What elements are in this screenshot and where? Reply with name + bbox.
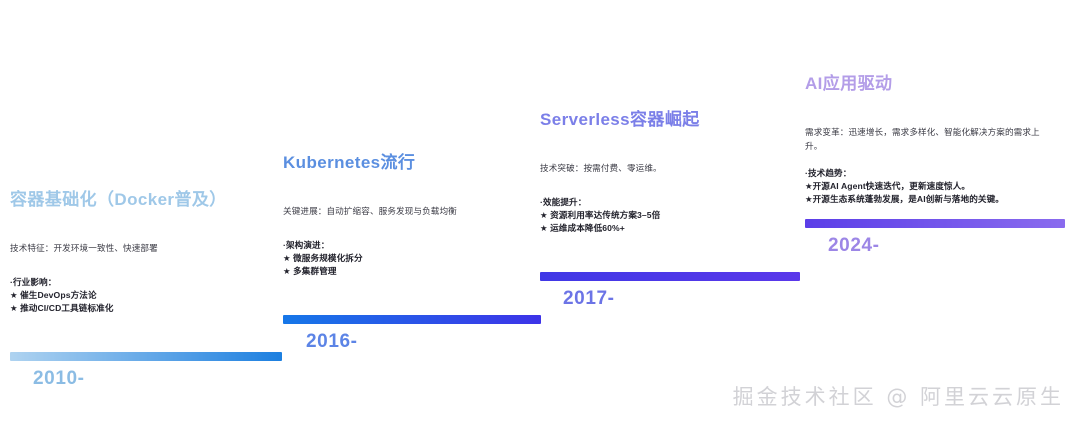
timeline-stage-containerization: 容器基础化（Docker普及） 技术特征：开发环境一致性、快速部署 ·行业影响：… <box>10 190 282 390</box>
star-icon: ★ <box>10 303 18 313</box>
stage-lead-text: 技术特征：开发环境一致性、快速部署 <box>10 242 270 255</box>
stage-bullet-group: ·技术趋势： ★开源AI Agent快速迭代，更新速度惊人。 ★开源生态系统蓬勃… <box>805 167 1065 207</box>
bullet-item: ★ 多集群管理 <box>283 265 541 278</box>
bullet-group-heading: ·效能提升： <box>540 196 800 209</box>
stage-bullet-group: ·行业影响： ★ 催生DevOps方法论 ★ 推动CI/CD工具链标准化 <box>10 276 282 316</box>
bullet-item: ★ 资源利用率达传统方案3–5倍 <box>540 209 800 222</box>
bullet-item-label: 开源生态系统蓬勃发展，是AI创新与落地的关键。 <box>813 194 1004 204</box>
stage-year-label: 2024- <box>828 236 1065 257</box>
stage-lead-text: 需求变革：迅速增长，需求多样化、智能化解决方案的需求上升。 <box>805 126 1049 153</box>
stage-year-label: 2010- <box>33 369 282 390</box>
stage-title: 容器基础化（Docker普及） <box>10 190 282 210</box>
stage-title: AI应用驱动 <box>805 74 1065 94</box>
bullet-group-heading: ·技术趋势： <box>805 167 1065 180</box>
star-icon: ★ <box>805 194 813 204</box>
bullet-item: ★开源AI Agent快速迭代，更新速度惊人。 <box>805 180 1065 193</box>
bullet-item-label: 运维成本降低60%+ <box>550 223 625 233</box>
timeline-stage-ai-driven: AI应用驱动 需求变革：迅速增长，需求多样化、智能化解决方案的需求上升。 ·技术… <box>805 74 1065 256</box>
timeline-infographic: 容器基础化（Docker普及） 技术特征：开发环境一致性、快速部署 ·行业影响：… <box>0 0 1080 423</box>
stage-title: Serverless容器崛起 <box>540 110 800 130</box>
bullet-item: ★ 运维成本降低60%+ <box>540 222 800 235</box>
stage-bullet-group: ·架构演进： ★ 微服务规模化拆分 ★ 多集群管理 <box>283 239 541 279</box>
star-icon: ★ <box>10 290 18 300</box>
bullet-group-heading: ·行业影响： <box>10 276 282 289</box>
bullet-item-label: 资源利用率达传统方案3–5倍 <box>550 210 660 220</box>
stage-title: Kubernetes流行 <box>283 153 541 173</box>
star-icon: ★ <box>805 181 813 191</box>
star-icon: ★ <box>283 253 291 263</box>
stage-lead-text: 技术突破：按需付费、零运维。 <box>540 162 790 175</box>
bullet-item-label: 开源AI Agent快速迭代，更新速度惊人。 <box>813 181 971 191</box>
bullet-group-heading: ·架构演进： <box>283 239 541 252</box>
bullet-item: ★ 推动CI/CD工具链标准化 <box>10 302 282 315</box>
stage-year-label: 2016- <box>306 332 541 353</box>
star-icon: ★ <box>540 210 548 220</box>
stage-progress-bar <box>283 315 541 324</box>
stage-lead-text: 关键进展：自动扩缩容、服务发现与负载均衡 <box>283 205 541 218</box>
timeline-stage-serverless: Serverless容器崛起 技术突破：按需付费、零运维。 ·效能提升： ★ 资… <box>540 110 800 310</box>
stage-progress-bar <box>10 352 282 361</box>
bullet-item-label: 微服务规模化拆分 <box>293 253 363 263</box>
timeline-stage-kubernetes: Kubernetes流行 关键进展：自动扩缩容、服务发现与负载均衡 ·架构演进：… <box>283 153 541 353</box>
stage-year-label: 2017- <box>563 289 800 310</box>
bullet-item-label: 催生DevOps方法论 <box>20 290 97 300</box>
bullet-item: ★开源生态系统蓬勃发展，是AI创新与落地的关键。 <box>805 193 1065 206</box>
bullet-item: ★ 微服务规模化拆分 <box>283 252 541 265</box>
bullet-item-label: 多集群管理 <box>293 266 336 276</box>
bullet-item: ★ 催生DevOps方法论 <box>10 289 282 302</box>
star-icon: ★ <box>283 266 291 276</box>
stage-progress-bar <box>540 272 800 281</box>
stage-bullet-group: ·效能提升： ★ 资源利用率达传统方案3–5倍 ★ 运维成本降低60%+ <box>540 196 800 236</box>
stage-progress-bar <box>805 219 1065 228</box>
bullet-item-label: 推动CI/CD工具链标准化 <box>20 303 113 313</box>
star-icon: ★ <box>540 223 548 233</box>
watermark-text: 掘金技术社区 @ 阿里云云原生 <box>733 381 1064 411</box>
